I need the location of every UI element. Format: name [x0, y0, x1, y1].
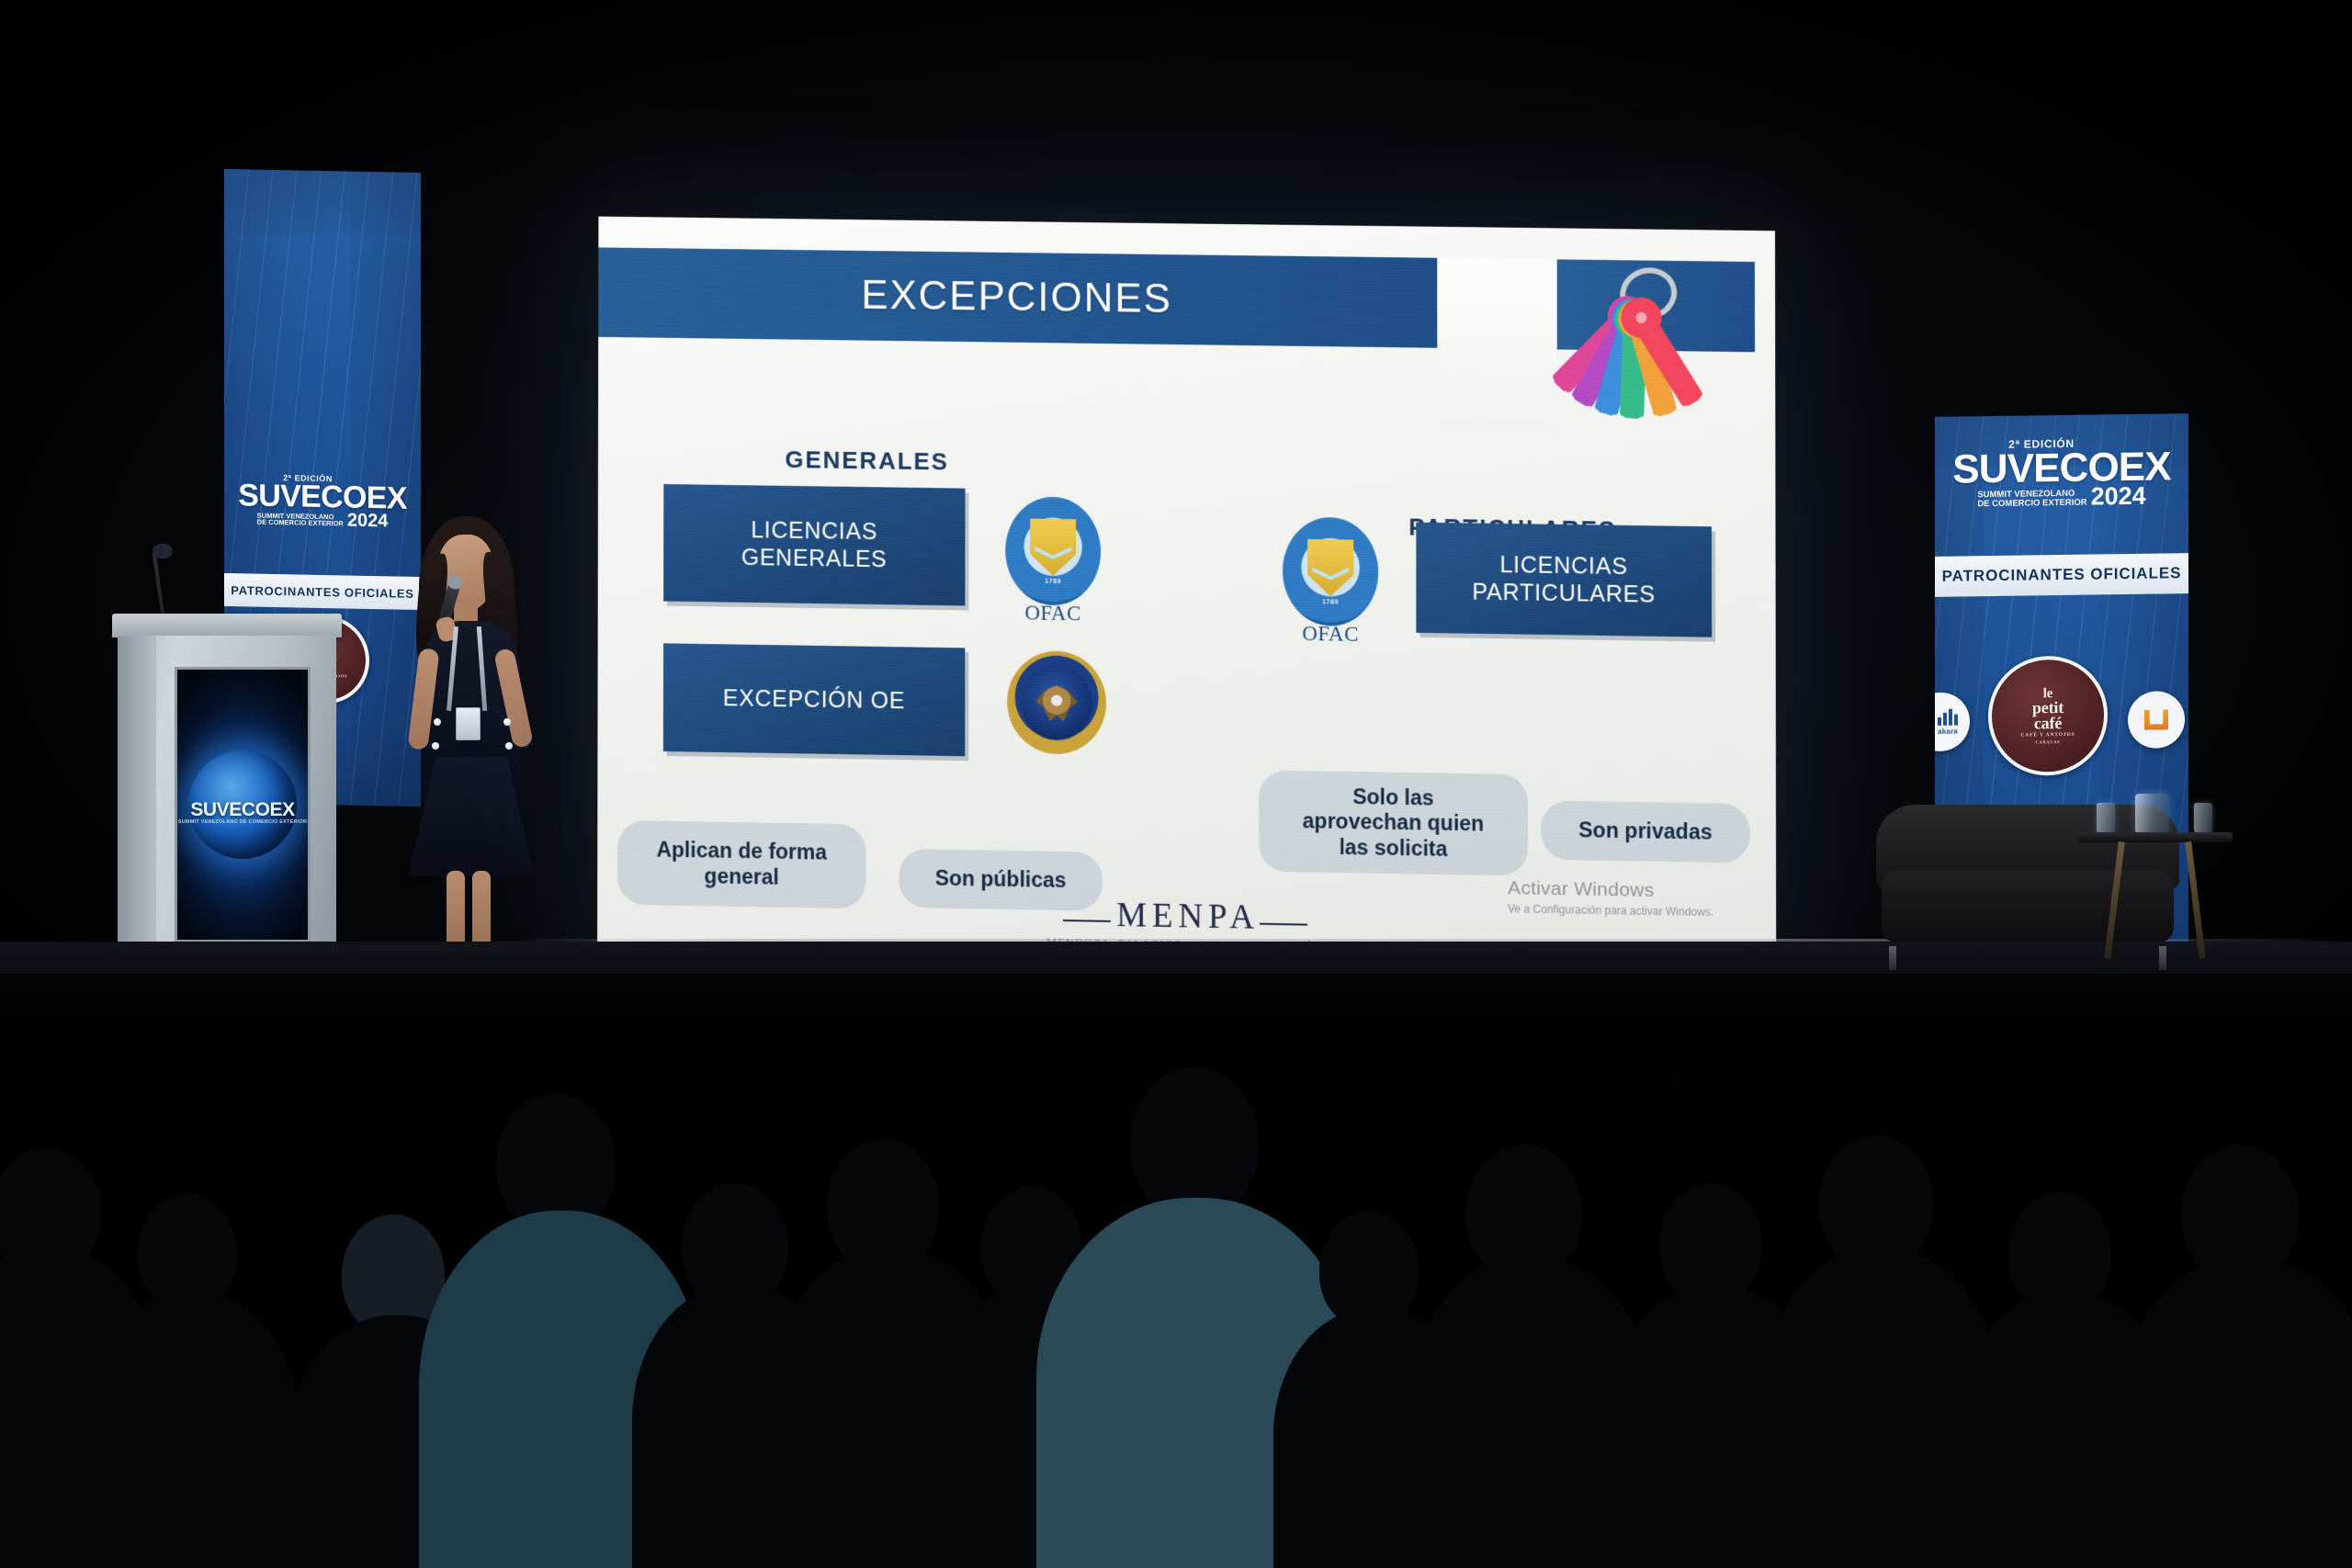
podium: SUVECOEX SUMMIT VENEZOLANO DE COMERCIO E…	[118, 614, 336, 972]
sponsor-logo-akara-right: akara	[1935, 692, 1970, 751]
podium-side-panel	[118, 636, 156, 959]
pill-line-1: Solo las	[1352, 784, 1434, 810]
dress-button	[432, 742, 439, 750]
column-heading-generales: GENERALES	[785, 446, 948, 476]
podium-top	[112, 614, 342, 637]
side-table-leg	[2104, 841, 2125, 959]
banner-year-label: 2024	[347, 513, 389, 529]
drinking-glass-icon	[2097, 803, 2115, 836]
presidential-seal-icon	[1007, 650, 1106, 755]
box-label: EXCEPCIÓN OE	[723, 684, 905, 716]
box-licencias-particulares: LICENCIASPARTICULARES	[1416, 523, 1712, 637]
watermark-title: Activar Windows	[1508, 877, 1713, 903]
side-table-top	[2078, 832, 2233, 842]
stage-side-table	[2078, 832, 2233, 979]
projection-screen: EXCEPCIONES GENERALES PARTICULARES LICEN…	[597, 217, 1776, 964]
pill-label: Son públicas	[935, 866, 1067, 894]
box-line-1: LICENCIAS	[751, 517, 877, 545]
side-table-leg	[2185, 841, 2206, 959]
menpa-wordmark: MENPA	[1116, 898, 1260, 935]
podium-screen: SUVECOEX SUMMIT VENEZOLANO DE COMERCIO E…	[175, 667, 311, 942]
banner-right-subtitle: SUMMIT VENEZOLANO DE COMERCIO EXTERIOR	[1977, 490, 2086, 510]
banner-left-logo: 2ª EDICIÓN SUVECOEX SUMMIT VENEZOLANO DE…	[224, 472, 421, 529]
akara-bars-icon-right	[1938, 708, 1958, 725]
audience-silhouettes	[0, 974, 2352, 1568]
speaker-badge	[456, 707, 481, 740]
banner-right-year: 2024	[2091, 487, 2146, 507]
water-pitcher-icon	[2135, 794, 2168, 836]
box-line-1: LICENCIAS	[1499, 551, 1627, 579]
sofa-leg	[1889, 946, 1896, 970]
keys-illustration	[1552, 259, 1727, 464]
box-licencias-generales: LICENCIASGENERALES	[663, 484, 965, 605]
dress-button	[503, 718, 511, 726]
banner-brand-label: SUVECOEX	[224, 481, 421, 513]
sponsor-mark-icon	[2144, 709, 2168, 729]
slide-title-notch-white	[1437, 258, 1557, 434]
watermark-subtitle: Ve a Configuración para activar Windows.	[1508, 902, 1713, 919]
slide-title: EXCEPCIONES	[861, 273, 1172, 322]
pill-son-privadas: Son privadas	[1541, 800, 1750, 863]
banner-right-logo: 2ª EDICIÓN SUVECOEX SUMMIT VENEZOLANO DE…	[1935, 435, 2188, 510]
dress-button	[434, 718, 441, 726]
pill-aplican-de-forma-general: Aplican de formageneral	[617, 820, 866, 908]
ofac-label: OFAC	[1283, 622, 1378, 648]
banner-subtitle: SUMMIT VENEZOLANO DE COMERCIO EXTERIOR	[257, 512, 344, 528]
pill-label: Son privadas	[1578, 818, 1713, 845]
box-excepcion-oe: EXCEPCIÓN OE	[663, 643, 965, 756]
pill-line-3: las solicita	[1339, 835, 1447, 861]
ofac-label: OFAC	[1005, 601, 1101, 626]
windows-activation-watermark: Activar Windows Ve a Configuración para …	[1508, 877, 1713, 919]
sponsor-logo-third-right	[2128, 691, 2185, 749]
box-line-2: GENERALES	[741, 545, 888, 572]
drinking-glass-icon	[2194, 803, 2212, 836]
dress-button	[505, 742, 513, 750]
banner-right-sponsors-header: PATROCINANTES OFICIALES	[1935, 553, 2188, 597]
microphone-head-icon	[153, 544, 173, 558]
slide-title-bar: EXCEPCIONES	[598, 247, 1437, 347]
podium-screen-brand: SUVECOEX	[177, 799, 308, 821]
podium-screen-subtitle: SUMMIT VENEZOLANO DE COMERCIO EXTERIOR	[177, 819, 308, 825]
banner-sponsors-header: PATROCINANTES OFICIALES	[224, 573, 421, 610]
pill-line-2: aprovechan quien	[1303, 808, 1485, 835]
conference-scene: 2ª EDICIÓN SUVECOEX SUMMIT VENEZOLANO DE…	[0, 0, 2352, 1568]
ofac-seal-icon-right: 1789 OFAC	[1283, 517, 1378, 627]
pill-solo-las-aprovechan: Solo lasaprovechan quienlas solicita	[1259, 770, 1528, 875]
banner-right-brand: SUVECOEX	[1935, 448, 2188, 489]
pill-line-1: Aplican de forma	[656, 838, 827, 864]
presentation-slide: EXCEPCIONES GENERALES PARTICULARES LICEN…	[597, 217, 1776, 964]
speaker-presenter	[395, 511, 560, 970]
box-line-2: PARTICULARES	[1472, 580, 1655, 608]
pill-line-2: general	[704, 863, 778, 888]
sponsor-logo-le-petit-cafe-right: le petit café CAFÉ Y ANTOJOS CARACAS	[1988, 655, 2108, 776]
ofac-seal-icon-left: 1789 OFAC	[1005, 496, 1101, 605]
